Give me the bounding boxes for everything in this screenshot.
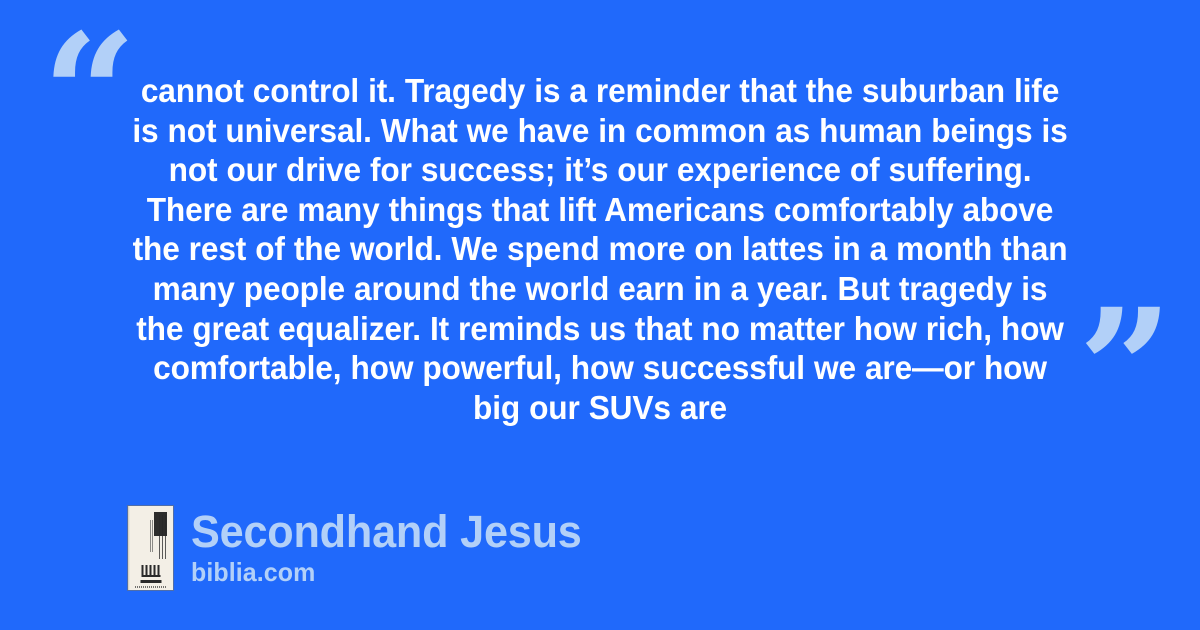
quote-text: cannot control it. Tragedy is a reminder… bbox=[128, 72, 1073, 428]
publisher-name-bar bbox=[140, 580, 161, 583]
book-cover-icon bbox=[128, 506, 173, 590]
cover-subtitle-lines bbox=[159, 515, 168, 559]
quote-card: “ ” cannot control it. Tragedy is a remi… bbox=[0, 0, 1200, 630]
footer-text-group: Secondhand Jesus biblia.com bbox=[191, 506, 598, 587]
cover-footnote-line bbox=[135, 586, 167, 588]
cover-spine-edge bbox=[128, 506, 130, 590]
site-name: biblia.com bbox=[191, 557, 582, 587]
publisher-logo-icon bbox=[141, 565, 160, 577]
book-title: Secondhand Jesus bbox=[191, 508, 582, 556]
quote-block: cannot control it. Tragedy is a reminder… bbox=[100, 72, 1100, 428]
cover-byline-lines bbox=[150, 520, 154, 552]
attribution-footer: Secondhand Jesus biblia.com bbox=[128, 506, 598, 590]
